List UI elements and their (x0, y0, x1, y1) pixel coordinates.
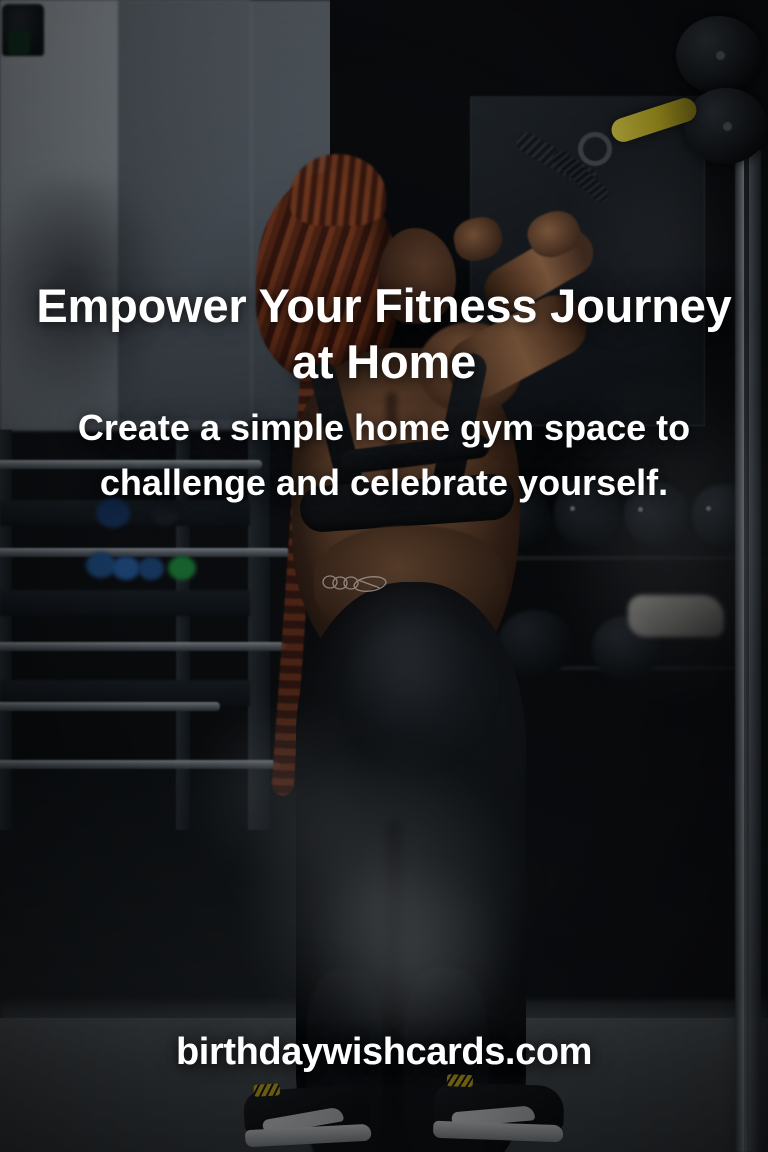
headline: Empower Your Fitness Journey at Home (0, 278, 768, 391)
text-overlay: Empower Your Fitness Journey at Home Cre… (0, 0, 768, 1152)
fitness-motivation-card: Empower Your Fitness Journey at Home Cre… (0, 0, 768, 1152)
subheadline: Create a simple home gym space to challe… (0, 400, 768, 510)
footer-website-url: birthdaywishcards.com (0, 1031, 768, 1074)
